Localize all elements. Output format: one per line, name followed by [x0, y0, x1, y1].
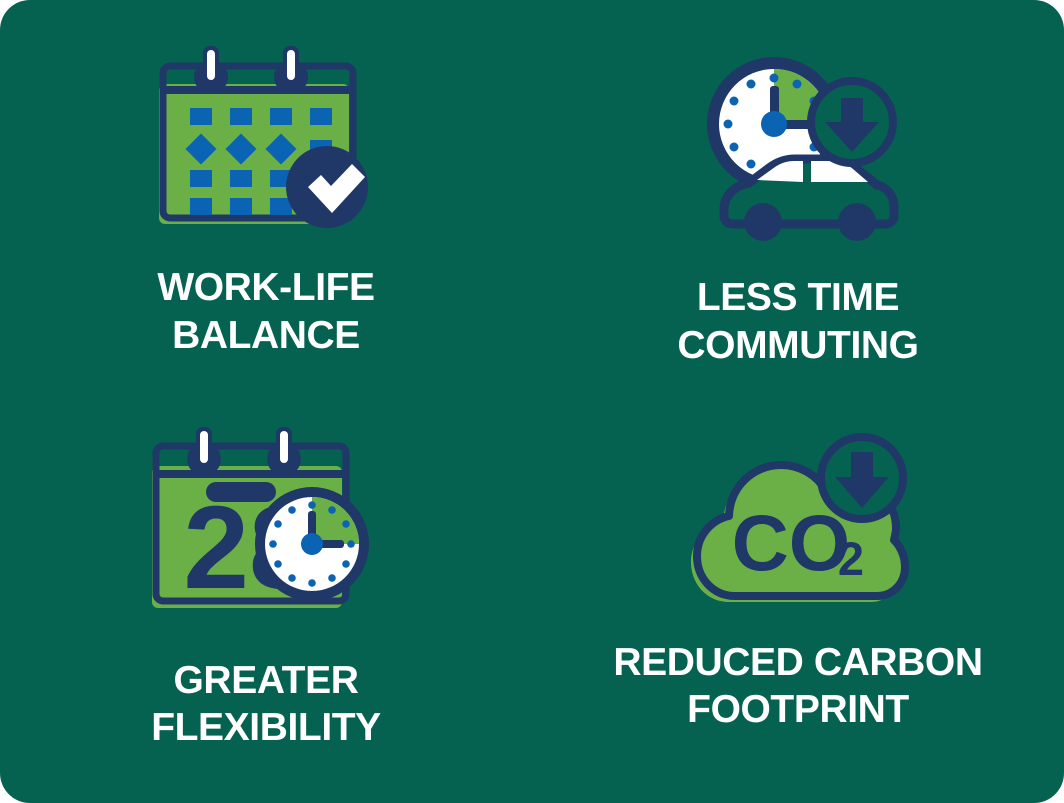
calendar-28-clock-icon: 28 — [144, 426, 389, 621]
benefit-card-work-life-balance[interactable]: WORK-LIFE BALANCE — [0, 0, 532, 402]
benefit-label-reduced-carbon-footprint: REDUCED CARBON FOOTPRINT — [613, 639, 982, 734]
benefit-card-less-time-commuting[interactable]: LESS TIME COMMUTING — [532, 0, 1064, 402]
benefit-label-less-time-commuting: LESS TIME COMMUTING — [677, 274, 918, 369]
infographic-canvas: WORK-LIFE BALANCE — [0, 0, 1064, 803]
benefit-card-greater-flexibility[interactable]: 28 — [0, 402, 532, 803]
clock-car-download-icon — [691, 46, 906, 246]
benefit-label-greater-flexibility: GREATER FLEXIBILITY — [151, 657, 381, 752]
calendar-check-icon — [151, 46, 381, 236]
co2-subscript: 2 — [838, 532, 864, 585]
benefit-label-work-life-balance: WORK-LIFE BALANCE — [157, 264, 374, 359]
co2-cloud-download-icon: CO 2 — [683, 426, 913, 611]
benefits-grid: WORK-LIFE BALANCE — [0, 0, 1064, 803]
benefit-card-reduced-carbon-footprint[interactable]: CO 2 REDUCED CARBON FOOTPRINT — [532, 402, 1064, 803]
